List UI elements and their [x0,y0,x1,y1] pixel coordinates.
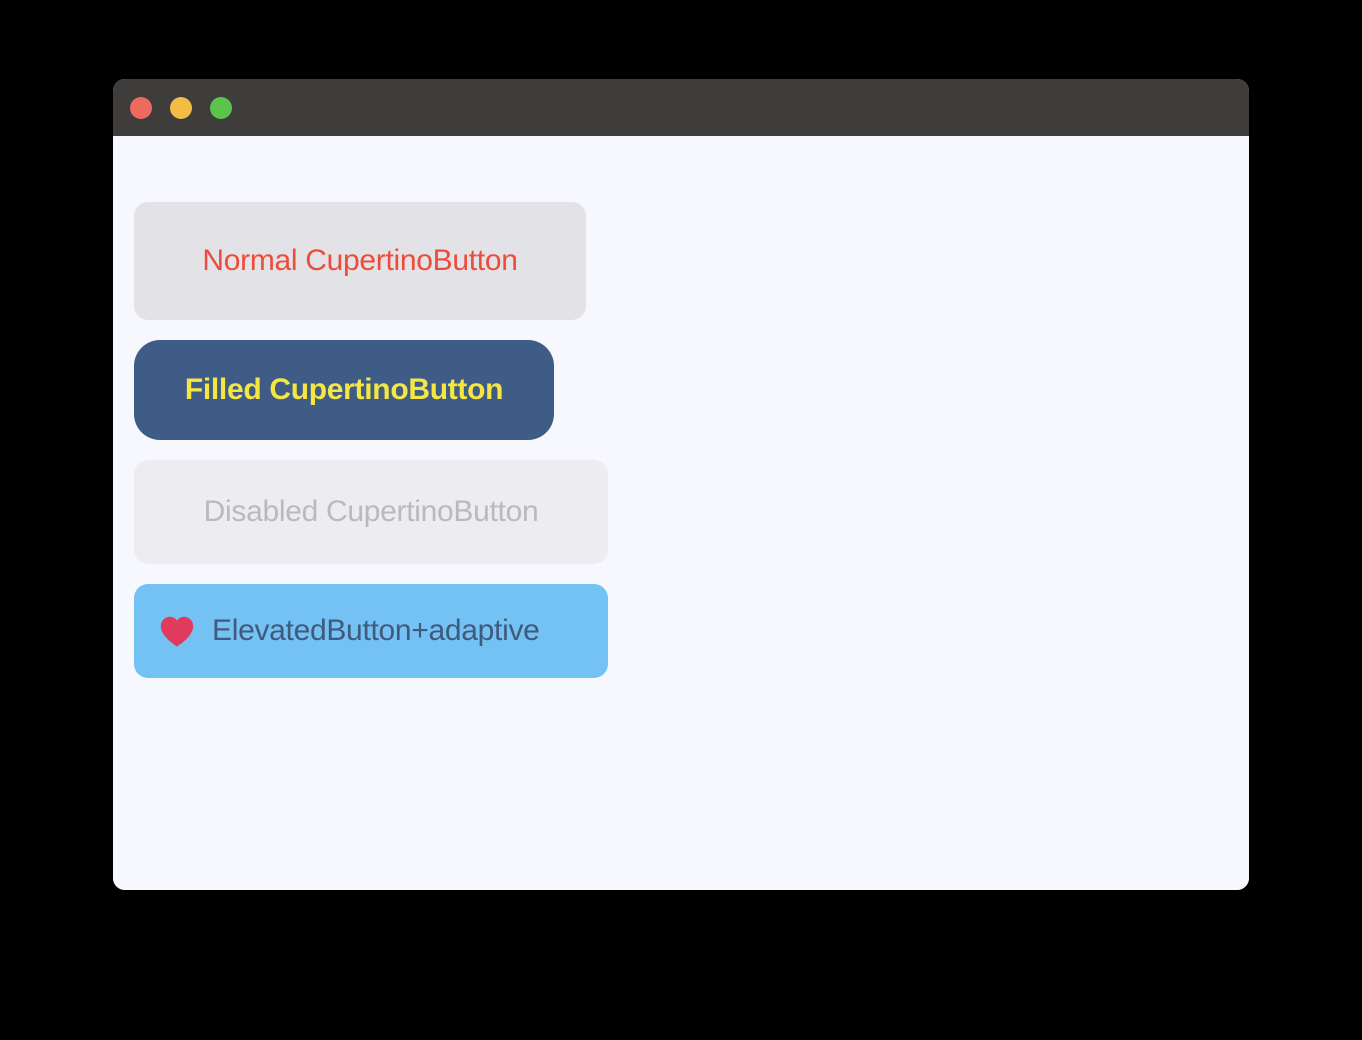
close-window-button[interactable] [130,97,152,119]
screen-root: Normal CupertinoButton Filled CupertinoB… [0,0,1362,1040]
normal-cupertino-button-label: Normal CupertinoButton [202,244,517,278]
app-content-area: Normal CupertinoButton Filled CupertinoB… [113,136,1249,890]
button-stack: Normal CupertinoButton Filled CupertinoB… [134,202,608,678]
traffic-light-group [130,97,232,119]
filled-cupertino-button-label: Filled CupertinoButton [185,373,503,407]
normal-cupertino-button[interactable]: Normal CupertinoButton [134,202,586,320]
minimize-window-button[interactable] [170,97,192,119]
disabled-cupertino-button-label: Disabled CupertinoButton [204,495,539,529]
disabled-cupertino-button: Disabled CupertinoButton [134,460,608,564]
heart-icon [160,614,194,648]
app-window: Normal CupertinoButton Filled CupertinoB… [113,79,1249,890]
filled-cupertino-button[interactable]: Filled CupertinoButton [134,340,554,440]
elevated-adaptive-button-label: ElevatedButton+adaptive [212,614,540,648]
elevated-adaptive-button[interactable]: ElevatedButton+adaptive [134,584,608,678]
window-titlebar[interactable] [113,79,1249,136]
maximize-window-button[interactable] [210,97,232,119]
